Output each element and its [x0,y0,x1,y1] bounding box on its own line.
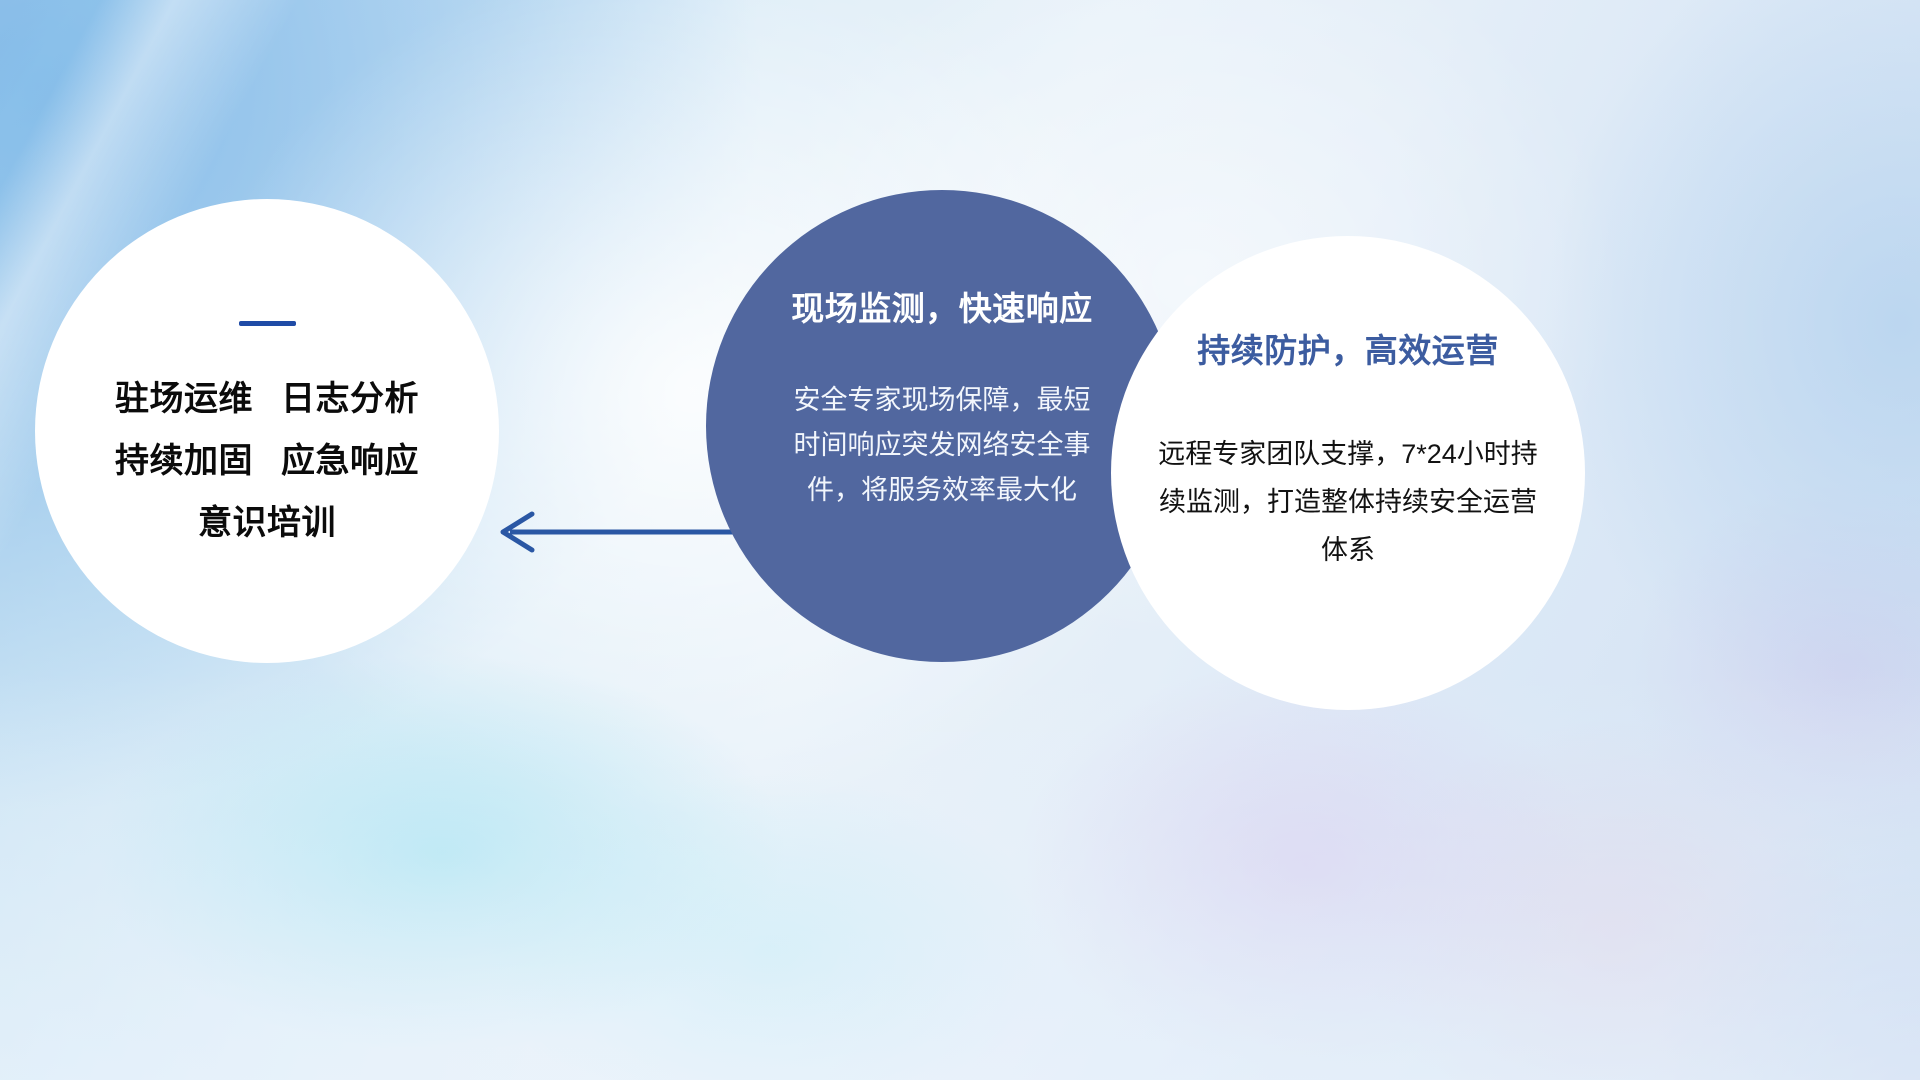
right-service-circle[interactable]: 持续防护，高效运营 远程专家团队支撑，7*24小时持续监测，打造整体持续安全运营… [1111,236,1585,710]
capability-row-3: 意识培训 [115,492,419,554]
right-card-body: 远程专家团队支撑，7*24小时持续监测，打造整体持续安全运营体系 [1148,430,1548,574]
capability-item-5: 意识培训 [198,504,336,542]
left-capability-circle[interactable]: 驻场运维日志分析 持续加固应急响应 意识培训 [35,199,499,663]
middle-card-title: 现场监测，快速响应 [791,282,1093,330]
accent-rule-divider [239,321,296,326]
capability-item-2: 日志分析 [281,380,419,418]
capability-item-3: 持续加固 [115,442,253,480]
slide-canvas: 驻场运维日志分析 持续加固应急响应 意识培训 现场监测，快速响应 安全专家现场保… [0,0,1920,1080]
middle-card-body: 安全专家现场保障，最短时间响应突发网络安全事件，将服务效率最大化 [783,378,1101,513]
capability-item-1: 驻场运维 [115,380,253,418]
right-card-title: 持续防护，高效运营 [1197,324,1499,372]
capability-row-2: 持续加固应急响应 [115,430,419,492]
middle-service-circle[interactable]: 现场监测，快速响应 安全专家现场保障，最短时间响应突发网络安全事件，将服务效率最… [706,190,1178,662]
capability-list: 驻场运维日志分析 持续加固应急响应 意识培训 [115,368,419,554]
capability-row-1: 驻场运维日志分析 [115,368,419,430]
capability-item-4: 应急响应 [281,442,419,480]
